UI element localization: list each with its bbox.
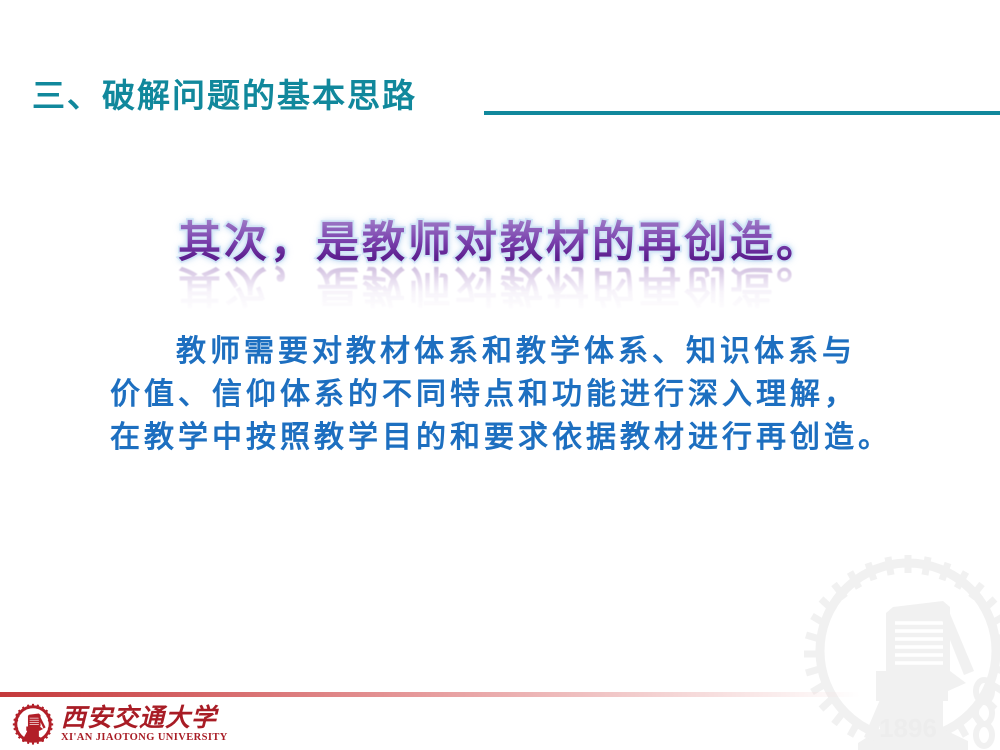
body-line-1: 教师需要对教材体系和教学体系、知识体系与	[110, 330, 910, 373]
wordart-heading-text: 其次，是教师对教材的再创造。	[0, 208, 1000, 270]
wordart-heading-block: 其次，是教师对教材的再创造。 其次，是教师对教材的再创造。 其次，是教师对教材的…	[0, 200, 1000, 310]
page-title: 三、破解问题的基本思路	[32, 76, 417, 116]
body-line-2: 价值、信仰体系的不同特点和功能进行深入理解，	[110, 373, 910, 416]
xjtu-emblem-watermark-icon: 1896	[798, 551, 1000, 750]
university-logo: 西安交通大学 XI'AN JIAOTONG UNIVERSITY	[12, 703, 228, 745]
body-line-3: 在教学中按照教学目的和要求依据教材进行再创造。	[110, 416, 910, 459]
body-paragraph: 教师需要对教材体系和教学体系、知识体系与 价值、信仰体系的不同特点和功能进行深入…	[110, 330, 910, 459]
section-title-block: 三、破解问题的基本思路	[0, 76, 1000, 128]
watermark-year: 1896	[879, 713, 937, 743]
footer-divider-rule	[0, 692, 1000, 697]
university-name-en: XI'AN JIAOTONG UNIVERSITY	[61, 733, 228, 744]
university-name-cn: 西安交通大学	[61, 705, 228, 730]
xjtu-gear-anvil-emblem-icon	[12, 703, 54, 745]
university-logo-text: 西安交通大学 XI'AN JIAOTONG UNIVERSITY	[61, 705, 228, 744]
slide-canvas: 三、破解问题的基本思路 其次，是教师对教材的再创造。 其次，是教师对教材的再创造…	[0, 0, 1000, 750]
title-underline-rule	[484, 111, 1000, 115]
